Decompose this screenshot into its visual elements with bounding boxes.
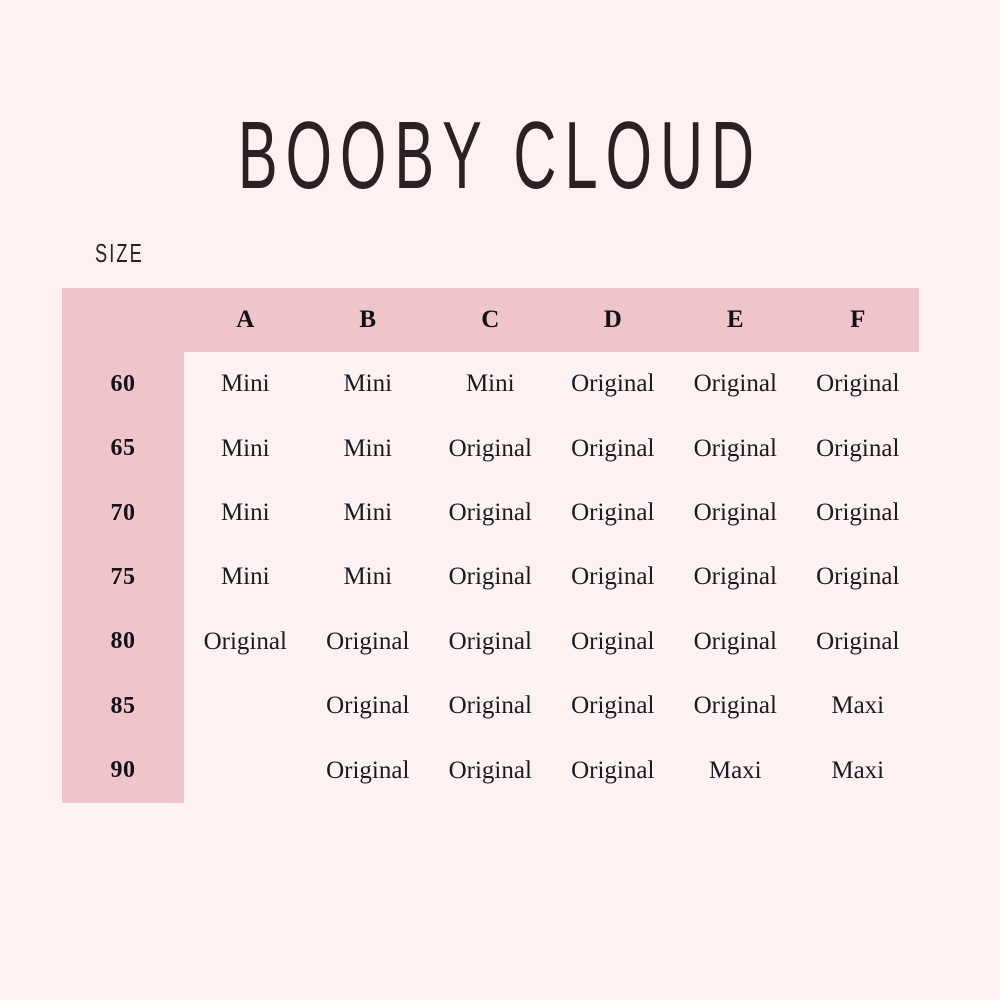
table-corner-cell — [62, 288, 184, 352]
row-header-75: 75 — [62, 545, 184, 609]
table-cell: Original — [307, 610, 430, 674]
size-axis-label: SIZE — [95, 240, 144, 266]
column-header-e: E — [674, 288, 797, 352]
table-cell: Original — [674, 545, 797, 609]
row-header-85: 85 — [62, 674, 184, 738]
table-cell: Mini — [184, 416, 307, 480]
row-header-70: 70 — [62, 481, 184, 545]
table-cell: Maxi — [797, 739, 920, 803]
table-cell: Original — [552, 674, 675, 738]
table-cell: Original — [674, 610, 797, 674]
table-cell: Original — [552, 545, 675, 609]
table-cell: Mini — [307, 416, 430, 480]
size-table: A B C D E F 60 Mini Mini Mini Original O… — [62, 288, 919, 803]
table-cell: Mini — [184, 352, 307, 416]
table-cell: Original — [797, 481, 920, 545]
table-cell: Mini — [307, 545, 430, 609]
table-cell — [184, 674, 307, 738]
table-cell: Original — [552, 481, 675, 545]
table-cell: Original — [674, 352, 797, 416]
table-cell: Mini — [307, 481, 430, 545]
row-header-65: 65 — [62, 416, 184, 480]
table-cell: Original — [797, 352, 920, 416]
table-cell: Original — [429, 610, 552, 674]
table-cell: Original — [674, 416, 797, 480]
table-cell: Mini — [184, 481, 307, 545]
table-cell: Original — [429, 674, 552, 738]
table-cell — [184, 739, 307, 803]
table-cell: Original — [307, 739, 430, 803]
row-header-90: 90 — [62, 739, 184, 803]
row-header-80: 80 — [62, 610, 184, 674]
row-header-60: 60 — [62, 352, 184, 416]
column-header-a: A — [184, 288, 307, 352]
size-chart-page: BOOBY CLOUD SIZE A B C D E F 60 Mini Min… — [0, 0, 1000, 1000]
table-cell: Original — [552, 610, 675, 674]
column-header-f: F — [797, 288, 920, 352]
table-cell: Original — [674, 674, 797, 738]
table-cell: Original — [552, 352, 675, 416]
table-cell: Original — [429, 739, 552, 803]
table-cell: Original — [429, 416, 552, 480]
table-cell: Original — [307, 674, 430, 738]
table-cell: Original — [429, 481, 552, 545]
table-cell: Original — [797, 610, 920, 674]
table-cell: Mini — [429, 352, 552, 416]
table-cell: Original — [552, 416, 675, 480]
table-cell: Original — [674, 481, 797, 545]
table-cell: Original — [184, 610, 307, 674]
column-header-d: D — [552, 288, 675, 352]
table-cell: Mini — [184, 545, 307, 609]
column-header-c: C — [429, 288, 552, 352]
table-cell: Mini — [307, 352, 430, 416]
table-cell: Original — [429, 545, 552, 609]
table-cell: Original — [797, 416, 920, 480]
table-cell: Maxi — [674, 739, 797, 803]
column-header-b: B — [307, 288, 430, 352]
table-cell: Original — [552, 739, 675, 803]
page-title: BOOBY CLOUD — [190, 108, 810, 204]
table-cell: Original — [797, 545, 920, 609]
table-cell: Maxi — [797, 674, 920, 738]
